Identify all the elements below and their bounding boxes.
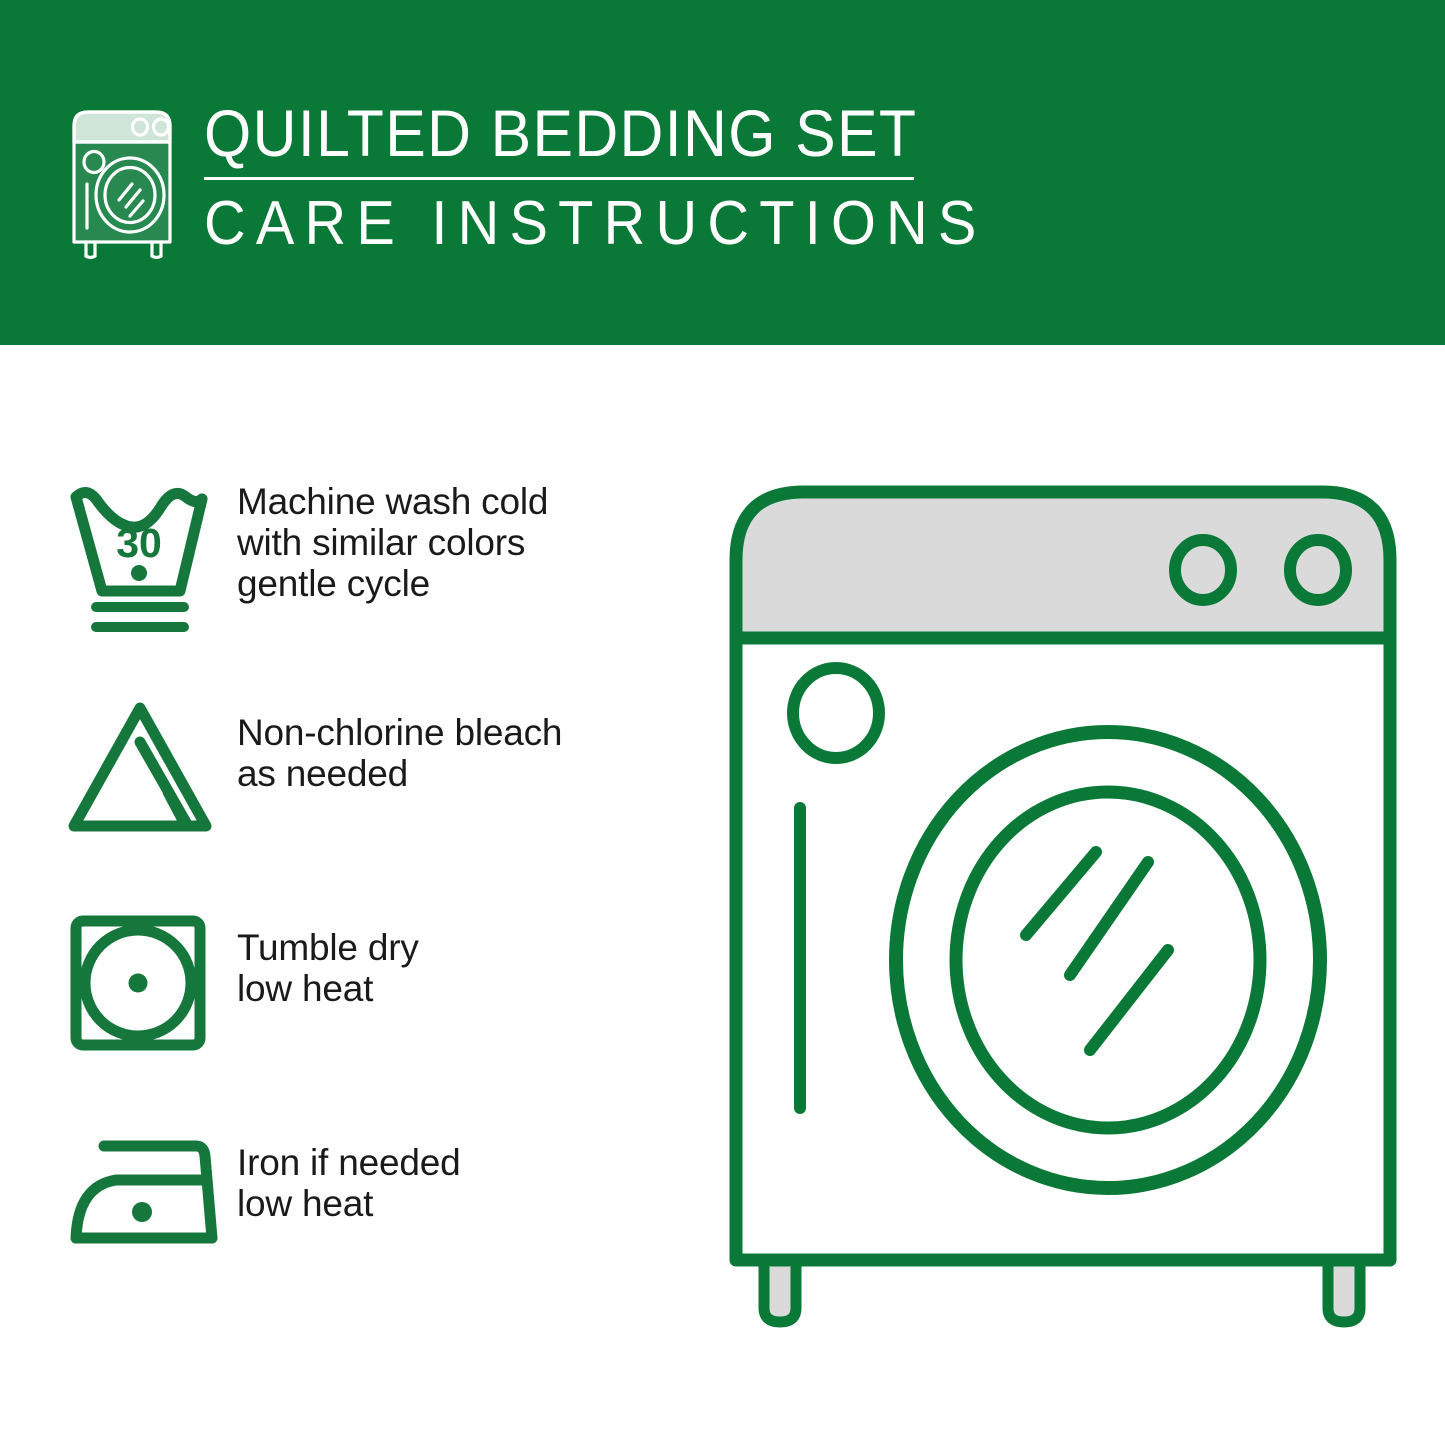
care-symbol-slot <box>62 690 237 844</box>
header-content: QUILTED BEDDING SET CARE INSTRUCTIONS <box>62 96 1045 262</box>
label-line: Tumble dry <box>237 927 702 968</box>
iron-heat-dot <box>132 1202 152 1222</box>
list-item: 30 Machine wash cold with similar colors… <box>62 475 702 690</box>
wash-tub-30-gentle-symbol: 30 <box>62 479 234 644</box>
list-item-label: Machine wash cold with similar colors ge… <box>237 475 702 604</box>
label-line: low heat <box>237 1183 702 1224</box>
list-item-label: Tumble dry low heat <box>237 905 702 1009</box>
drum-inner-ring <box>956 792 1260 1128</box>
page-title: QUILTED BEDDING SET <box>204 96 978 170</box>
care-instructions-infographic: QUILTED BEDDING SET CARE INSTRUCTIONS <box>0 0 1445 1445</box>
care-symbol-slot: 30 <box>62 475 237 644</box>
list-item-label: Non-chlorine bleach as needed <box>237 690 702 794</box>
front-load-washing-machine-illustration <box>718 470 1408 1360</box>
label-line: as needed <box>237 753 702 794</box>
wash-dot <box>131 565 147 581</box>
content-area: 30 Machine wash cold with similar colors… <box>0 345 1445 1445</box>
label-line: low heat <box>237 968 702 1009</box>
list-item: Non-chlorine bleach as needed <box>62 690 702 905</box>
care-instruction-list: 30 Machine wash cold with similar colors… <box>62 475 702 1335</box>
header-banner: QUILTED BEDDING SET CARE INSTRUCTIONS <box>0 0 1445 345</box>
shine-lines <box>1026 852 1168 1050</box>
label-line: with similar colors <box>237 522 702 563</box>
title-divider <box>204 177 914 180</box>
door-latch[interactable] <box>793 668 879 758</box>
list-item-label: Iron if needed low heat <box>237 1120 702 1224</box>
dry-heat-dot <box>129 974 148 993</box>
header-title-block: QUILTED BEDDING SET CARE INSTRUCTIONS <box>204 96 1045 259</box>
page-subtitle: CARE INSTRUCTIONS <box>204 189 987 259</box>
iron-low-heat-symbol <box>62 1124 234 1264</box>
leg-left <box>764 1260 796 1322</box>
label-line: Non-chlorine bleach <box>237 712 702 753</box>
label-line: gentle cycle <box>237 563 702 604</box>
list-item: Iron if needed low heat <box>62 1120 702 1335</box>
care-symbol-slot <box>62 905 237 1057</box>
tumble-dry-low-heat-symbol <box>62 909 234 1057</box>
label-line: Iron if needed <box>237 1142 702 1183</box>
washing-machine-icon <box>62 102 182 262</box>
label-line: Machine wash cold <box>237 481 702 522</box>
wash-temperature-label: 30 <box>116 520 162 566</box>
leg-right <box>1328 1260 1360 1322</box>
non-chlorine-bleach-triangle-symbol <box>62 694 234 844</box>
care-symbol-slot <box>62 1120 237 1264</box>
list-item: Tumble dry low heat <box>62 905 702 1120</box>
